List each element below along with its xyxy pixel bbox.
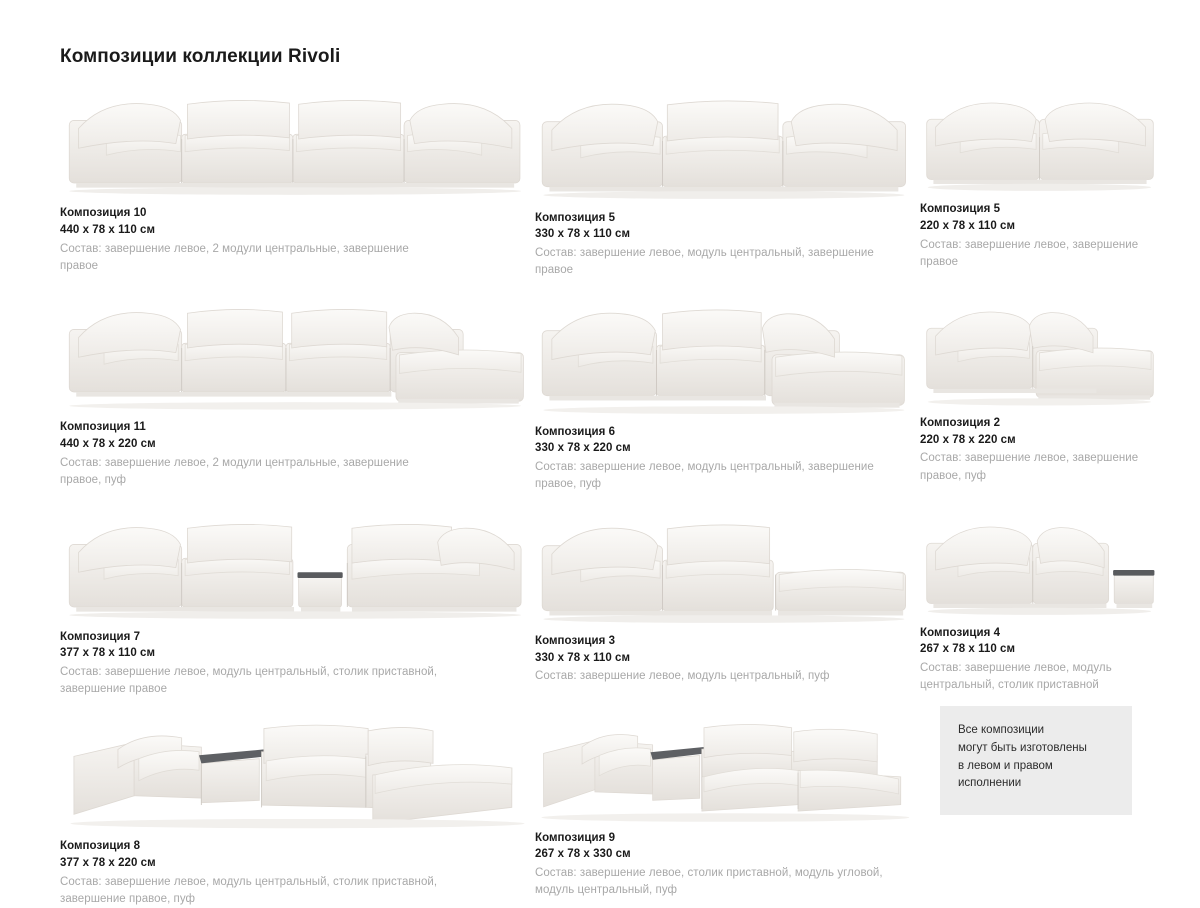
composition-desc: Состав: завершение левое, завершение пра… bbox=[920, 448, 1146, 485]
composition-name: Композиция 4 bbox=[920, 625, 1160, 642]
page-title: Композиции коллекции Rivoli bbox=[60, 46, 340, 68]
caption-comp-10: Композиция 10 440 x 78 x 110 см Состав: … bbox=[60, 199, 535, 275]
composition-desc: Состав: завершение левое, модуль централ… bbox=[920, 658, 1146, 695]
composition-card-comp-4[interactable]: Композиция 4 267 x 78 x 110 см Состав: з… bbox=[920, 512, 1160, 699]
composition-dims: 330 x 78 x 110 см bbox=[535, 226, 920, 243]
caption-comp-6: Композиция 6 330 x 78 x 220 см Состав: з… bbox=[535, 418, 920, 494]
composition-name: Композиция 11 bbox=[60, 419, 535, 436]
composition-desc: Состав: завершение левое, модуль централ… bbox=[535, 666, 890, 685]
note-line-1: Все композиции bbox=[958, 722, 1114, 740]
composition-desc: Состав: завершение левое, модуль централ… bbox=[535, 243, 890, 280]
caption-comp-9: Композиция 9 267 x 78 x 330 см Состав: з… bbox=[535, 824, 920, 900]
sofa-image-comp-7 bbox=[60, 512, 535, 623]
composition-name: Композиция 6 bbox=[535, 424, 920, 441]
note-line-2: могут быть изготовлены bbox=[958, 740, 1114, 758]
composition-desc: Состав: завершение левое, модуль централ… bbox=[535, 457, 890, 494]
composition-name: Композиция 3 bbox=[535, 633, 920, 650]
composition-desc: Состав: завершение левое, модуль централ… bbox=[60, 872, 440, 908]
caption-comp-5a: Композиция 5 330 x 78 x 110 см Состав: з… bbox=[535, 204, 920, 280]
composition-card-comp-10[interactable]: Композиция 10 440 x 78 x 110 см Состав: … bbox=[60, 88, 535, 279]
composition-card-comp-9[interactable]: Композиция 9 267 x 78 x 330 см Состав: з… bbox=[535, 717, 920, 908]
sofa-image-comp-5a bbox=[535, 88, 920, 204]
caption-comp-8: Композиция 8 377 x 78 x 220 см Состав: з… bbox=[60, 832, 535, 908]
composition-dims: 267 x 78 x 110 см bbox=[920, 641, 1160, 658]
sofa-image-comp-11 bbox=[60, 297, 535, 413]
sofa-image-comp-3 bbox=[535, 512, 920, 628]
composition-card-comp-5b[interactable]: Композиция 5 220 x 78 x 110 см Состав: з… bbox=[920, 88, 1160, 279]
composition-name: Композиция 5 bbox=[920, 201, 1160, 218]
composition-dims: 440 x 78 x 220 см bbox=[60, 436, 535, 453]
composition-name: Композиция 10 bbox=[60, 205, 535, 222]
composition-dims: 267 x 78 x 330 см bbox=[535, 846, 920, 863]
composition-name: Композиция 9 bbox=[535, 830, 920, 847]
caption-comp-3: Композиция 3 330 x 78 x 110 см Состав: з… bbox=[535, 627, 920, 686]
composition-dims: 220 x 78 x 220 см bbox=[920, 432, 1160, 449]
composition-card-comp-3[interactable]: Композиция 3 330 x 78 x 110 см Состав: з… bbox=[535, 512, 920, 699]
composition-card-comp-11[interactable]: Композиция 11 440 x 78 x 220 см Состав: … bbox=[60, 297, 535, 493]
composition-dims: 440 x 78 x 110 см bbox=[60, 222, 535, 239]
grid-row-1: Композиция 10 440 x 78 x 110 см Состав: … bbox=[60, 88, 1160, 279]
sofa-image-comp-4 bbox=[920, 512, 1160, 619]
composition-name: Композиция 2 bbox=[920, 415, 1160, 432]
sofa-image-comp-9 bbox=[535, 717, 920, 824]
composition-desc: Состав: завершение левое, модуль централ… bbox=[60, 662, 440, 699]
composition-dims: 377 x 78 x 220 см bbox=[60, 855, 535, 872]
composition-card-comp-6[interactable]: Композиция 6 330 x 78 x 220 см Состав: з… bbox=[535, 297, 920, 493]
sofa-image-comp-2 bbox=[920, 297, 1160, 409]
sofa-image-comp-10 bbox=[60, 88, 535, 199]
sofa-image-comp-6 bbox=[535, 297, 920, 417]
composition-card-comp-7[interactable]: Композиция 7 377 x 78 x 110 см Состав: з… bbox=[60, 512, 535, 699]
caption-comp-7: Композиция 7 377 x 78 x 110 см Состав: з… bbox=[60, 623, 535, 699]
composition-card-comp-2[interactable]: Композиция 2 220 x 78 x 220 см Состав: з… bbox=[920, 297, 1160, 493]
composition-name: Композиция 7 bbox=[60, 629, 535, 646]
caption-comp-5b: Композиция 5 220 x 78 x 110 см Состав: з… bbox=[920, 195, 1160, 271]
composition-desc: Состав: завершение левое, завершение пра… bbox=[920, 235, 1146, 272]
sofa-image-comp-5b bbox=[920, 88, 1160, 195]
note-line-4: исполнении bbox=[958, 775, 1114, 793]
composition-dims: 220 x 78 x 110 см bbox=[920, 218, 1160, 235]
composition-desc: Состав: завершение левое, 2 модули центр… bbox=[60, 239, 440, 276]
grid-row-3: Композиция 7 377 x 78 x 110 см Состав: з… bbox=[60, 512, 1160, 699]
caption-comp-2: Композиция 2 220 x 78 x 220 см Состав: з… bbox=[920, 409, 1160, 485]
sofa-image-comp-8 bbox=[60, 717, 535, 833]
composition-desc: Состав: завершение левое, 2 модули центр… bbox=[60, 453, 440, 490]
composition-desc: Состав: завершение левое, столик пристав… bbox=[535, 863, 890, 900]
note-box: Все композиции могут быть изготовлены в … bbox=[940, 706, 1132, 815]
composition-card-comp-5a[interactable]: Композиция 5 330 x 78 x 110 см Состав: з… bbox=[535, 88, 920, 279]
note-line-3: в левом и правом bbox=[958, 758, 1114, 776]
composition-name: Композиция 5 bbox=[535, 210, 920, 227]
composition-dims: 330 x 78 x 220 см bbox=[535, 440, 920, 457]
catalog-page: Композиции коллекции Rivoli bbox=[0, 0, 1200, 900]
composition-dims: 330 x 78 x 110 см bbox=[535, 650, 920, 667]
composition-dims: 377 x 78 x 110 см bbox=[60, 645, 535, 662]
caption-comp-4: Композиция 4 267 x 78 x 110 см Состав: з… bbox=[920, 619, 1160, 695]
composition-name: Композиция 8 bbox=[60, 838, 535, 855]
grid-row-2: Композиция 11 440 x 78 x 220 см Состав: … bbox=[60, 297, 1160, 493]
caption-comp-11: Композиция 11 440 x 78 x 220 см Состав: … bbox=[60, 413, 535, 489]
composition-card-comp-8[interactable]: Композиция 8 377 x 78 x 220 см Состав: з… bbox=[60, 717, 535, 908]
